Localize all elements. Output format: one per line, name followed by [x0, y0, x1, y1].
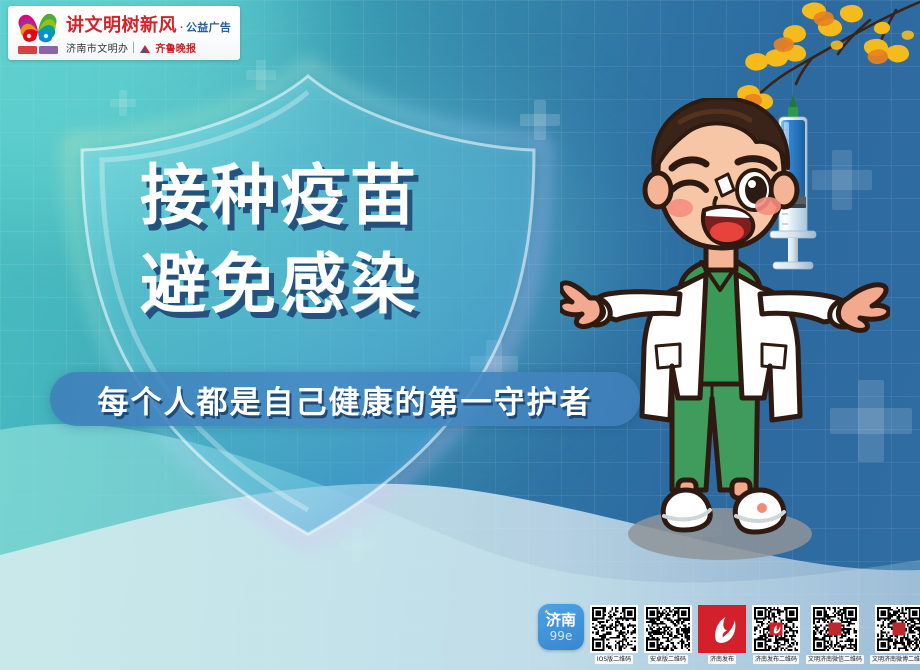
- civilization-butterfly-logo: [12, 10, 64, 56]
- app-icon-line2: 99e: [550, 630, 573, 642]
- public-service-banner: 讲文明树新风 · 公益广告 济南市文明办 齐鲁晚报: [8, 6, 240, 60]
- jinan-release-label: 济南发布: [708, 655, 736, 664]
- footer-qr-strip: 济南 99e IOS版二维码 安卓版二维码 济南发布: [538, 594, 920, 664]
- banner-main-title: 讲文明树新风: [66, 11, 177, 37]
- qr-center-logo-icon: [770, 622, 783, 635]
- cartoon-doctor: [560, 98, 890, 568]
- subtitle-pill: 每个人都是自己健康的第一守护者: [50, 372, 640, 426]
- headline-line-1: 接种疫苗: [140, 160, 570, 231]
- qr-center-seal-icon: [829, 622, 842, 635]
- qr-civilization-weibo2-image: [875, 605, 920, 653]
- headline-block: 接种疫苗 避免感染: [140, 160, 570, 321]
- qr-civilization-weibo[interactable]: 文明济南微信二维码: [806, 605, 864, 664]
- banner-separator: ·: [179, 18, 184, 35]
- qr-ios-label: IOS版二维码: [595, 655, 633, 664]
- qr-ios[interactable]: IOS版二维码: [590, 605, 638, 664]
- brand-jinan-release[interactable]: 济南发布: [698, 605, 746, 664]
- qr-center-seal-icon-2: [893, 622, 906, 635]
- qr-android[interactable]: 安卓版二维码: [644, 605, 692, 664]
- qr-android-label: 安卓版二维码: [648, 655, 688, 664]
- banner-organization: 济南市文明办: [66, 40, 128, 55]
- qr-civilization-weibo-label: 文明济南微信二维码: [806, 655, 864, 664]
- banner-subtitle: 公益广告: [186, 19, 231, 35]
- jinan-release-logo-icon: [698, 605, 746, 653]
- qr-ios-image: [590, 605, 638, 653]
- app-icon-line1: 济南: [546, 613, 576, 628]
- qr-civilization-weibo-image: [811, 605, 859, 653]
- jinan-app-icon[interactable]: 济南 99e: [538, 604, 584, 650]
- headline-line-2: 避免感染: [140, 249, 570, 320]
- qr-jinan-release-label: 济南发布二维码: [753, 655, 799, 664]
- subtitle-text: 每个人都是自己健康的第一守护者: [98, 377, 593, 422]
- poster-root: 讲文明树新风 · 公益广告 济南市文明办 齐鲁晚报 接种疫苗 避免感染: [0, 0, 920, 670]
- qr-jinan-release-image: [752, 605, 800, 653]
- qr-civilization-weibo2[interactable]: 文明济南微博二维码: [870, 605, 920, 664]
- banner-paper-name: 齐鲁晚报: [155, 40, 196, 55]
- qr-android-image: [644, 605, 692, 653]
- qilu-evening-news-mark: [139, 42, 152, 53]
- banner-divider: [133, 42, 134, 53]
- qr-civilization-weibo2-label: 文明济南微博二维码: [870, 655, 920, 664]
- qr-jinan-release[interactable]: 济南发布二维码: [752, 605, 800, 664]
